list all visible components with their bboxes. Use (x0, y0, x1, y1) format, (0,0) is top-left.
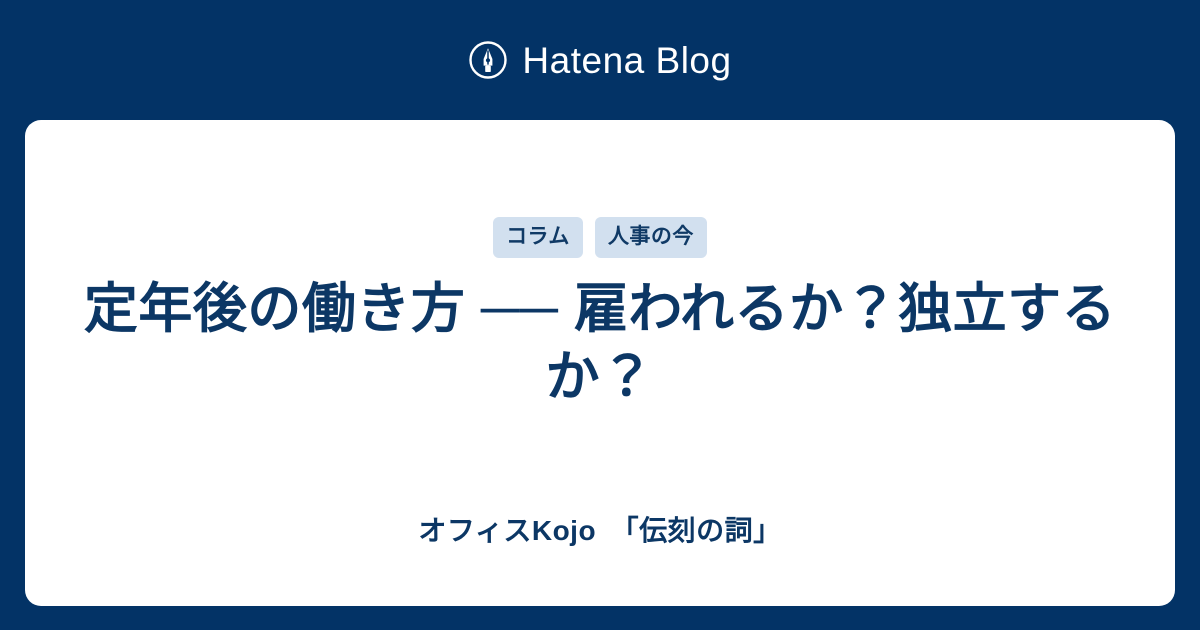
ogp-card-root: Hatena Blog コラム 人事の今 定年後の働き方 ── 雇われるか？独立… (0, 0, 1200, 630)
fountain-pen-nib-in-circle-icon (468, 40, 508, 80)
hatena-blog-brand-name: Hatena Blog (522, 42, 731, 79)
hatena-blog-brand-bar: Hatena Blog (0, 0, 1200, 120)
entry-card: コラム 人事の今 定年後の働き方 ── 雇われるか？独立するか？ オフィスKoj… (25, 120, 1175, 606)
entry-tag[interactable]: 人事の今 (595, 217, 707, 258)
entry-title: 定年後の働き方 ── 雇われるか？独立するか？ (30, 275, 1170, 411)
entry-tag[interactable]: コラム (493, 217, 583, 258)
entry-tag-list: コラム 人事の今 (493, 217, 707, 258)
blog-title-container: オフィスKojo 「伝刻の詞」 (25, 514, 1175, 548)
blog-title: オフィスKojo 「伝刻の詞」 (418, 514, 781, 548)
